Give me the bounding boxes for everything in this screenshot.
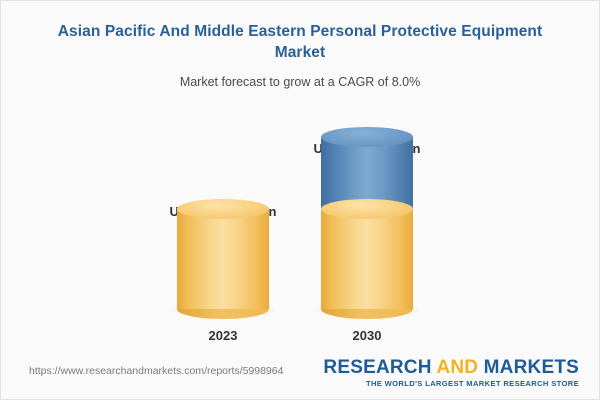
page-title: Asian Pacific And Middle Eastern Persona… — [31, 21, 569, 63]
cylinder-top-ellipse — [321, 127, 413, 147]
cylinder-segment-base-2030 — [321, 209, 413, 309]
chart-card: Asian Pacific And Middle Eastern Persona… — [0, 0, 600, 400]
bar-group-2023: USD 22.96 Billion 2023 — [143, 106, 303, 346]
axis-label-2023: 2023 — [143, 328, 303, 343]
chart-header: Asian Pacific And Middle Eastern Persona… — [31, 21, 569, 89]
cylinder-body — [177, 209, 269, 309]
logo-research-text: RESEARCH — [323, 357, 436, 378]
cylinder-segment-base-2023 — [177, 209, 269, 309]
logo-tagline: THE WORLD'S LARGEST MARKET RESEARCH STOR… — [323, 378, 579, 389]
logo-wordmark: RESEARCH AND MARKETS — [323, 357, 579, 378]
cylinder-stack-2030 — [321, 137, 413, 309]
report-url[interactable]: https://www.researchandmarkets.com/repor… — [29, 365, 283, 377]
research-and-markets-logo: RESEARCH AND MARKETS THE WORLD'S LARGEST… — [323, 357, 579, 389]
chart-subtitle: Market forecast to grow at a CAGR of 8.0… — [31, 75, 569, 89]
cylinder-top-ellipse — [177, 199, 269, 219]
logo-and-text: AND — [436, 357, 483, 378]
cylinder-stack-2023 — [177, 209, 269, 309]
cylinder-body — [321, 209, 413, 309]
chart-footer: https://www.researchandmarkets.com/repor… — [1, 347, 600, 399]
chart-plot-area: USD 22.96 Billion 2023 USD 39.14 Billion — [1, 106, 600, 346]
bar-group-2030: USD 39.14 Billion 2030 — [287, 106, 447, 346]
axis-label-2030: 2030 — [287, 328, 447, 343]
cylinder-divider-ellipse — [321, 199, 413, 219]
logo-markets-text: MARKETS — [484, 357, 579, 378]
